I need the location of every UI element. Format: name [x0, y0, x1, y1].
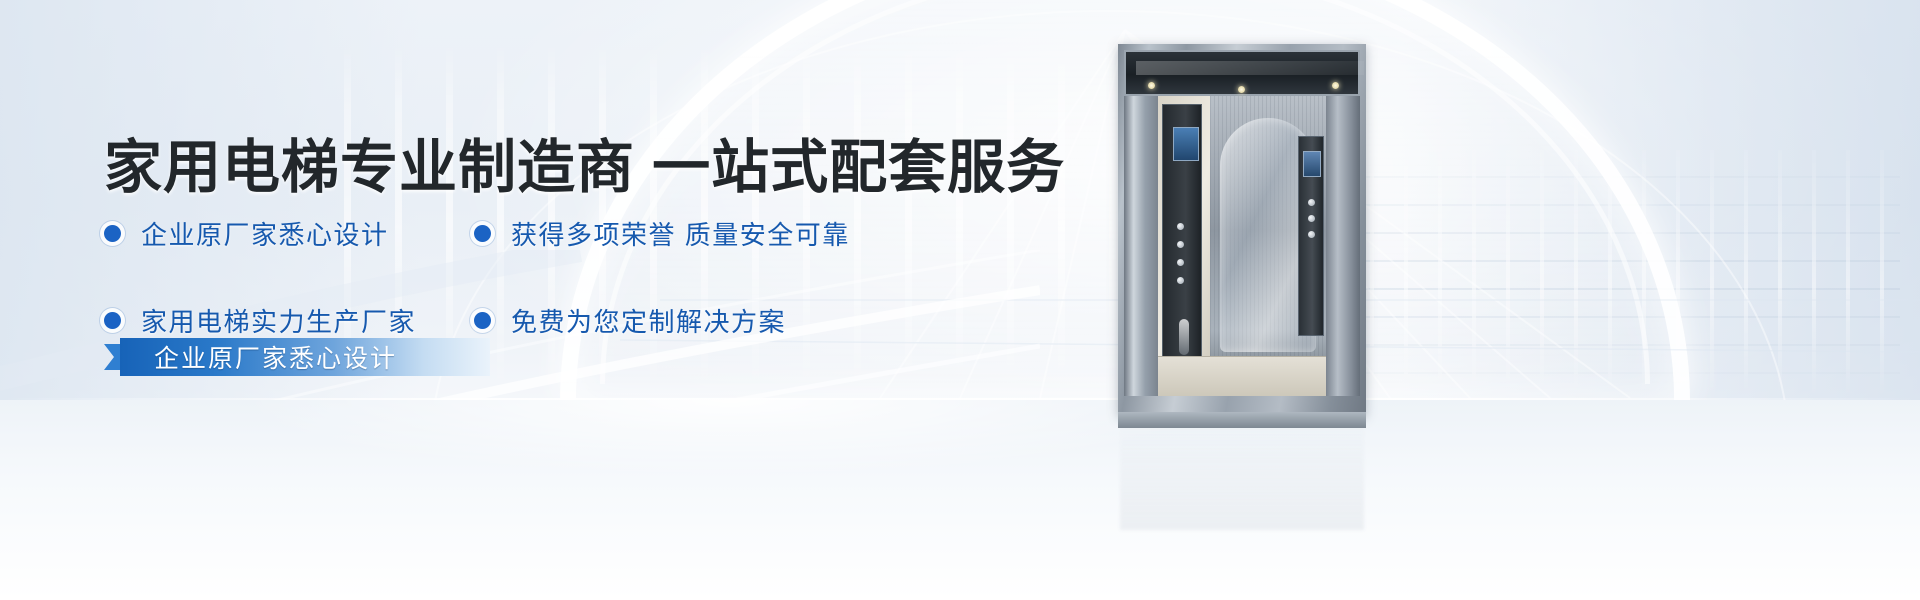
bullet-label: 获得多项荣誉 质量安全可靠: [511, 215, 850, 252]
filled-circle-bullet-icon: [104, 225, 121, 242]
filled-circle-bullet-icon: [474, 312, 491, 329]
bullet-item-3: 家用电梯实力生产厂家: [104, 302, 474, 339]
bullet-label: 免费为您定制解决方案: [511, 302, 786, 339]
ribbon-label: 企业原厂家悉心设计: [154, 339, 397, 375]
banner-headline: 家用电梯专业制造商 一站式配套服务: [104, 120, 1065, 204]
bullet-item-1: 企业原厂家悉心设计: [104, 215, 474, 252]
promo-banner: 家用电梯专业制造商 一站式配套服务 企业原厂家悉心设计 获得多项荣誉 质量安全可…: [0, 0, 1920, 600]
ribbon-bar: 企业原厂家悉心设计: [120, 338, 490, 376]
highlight-ribbon: 企业原厂家悉心设计: [104, 338, 490, 376]
filled-circle-bullet-icon: [474, 225, 491, 242]
bullet-label: 企业原厂家悉心设计: [141, 215, 389, 252]
bullet-item-4: 免费为您定制解决方案: [474, 302, 884, 339]
bullet-label: 家用电梯实力生产厂家: [141, 302, 416, 339]
feature-bullet-list: 企业原厂家悉心设计 获得多项荣誉 质量安全可靠 家用电梯实力生产厂家 免费为您定…: [104, 215, 884, 339]
bullet-item-2: 获得多项荣誉 质量安全可靠: [474, 215, 884, 252]
banner-content: 家用电梯专业制造商 一站式配套服务 企业原厂家悉心设计 获得多项荣誉 质量安全可…: [0, 0, 1920, 600]
filled-circle-bullet-icon: [104, 312, 121, 329]
